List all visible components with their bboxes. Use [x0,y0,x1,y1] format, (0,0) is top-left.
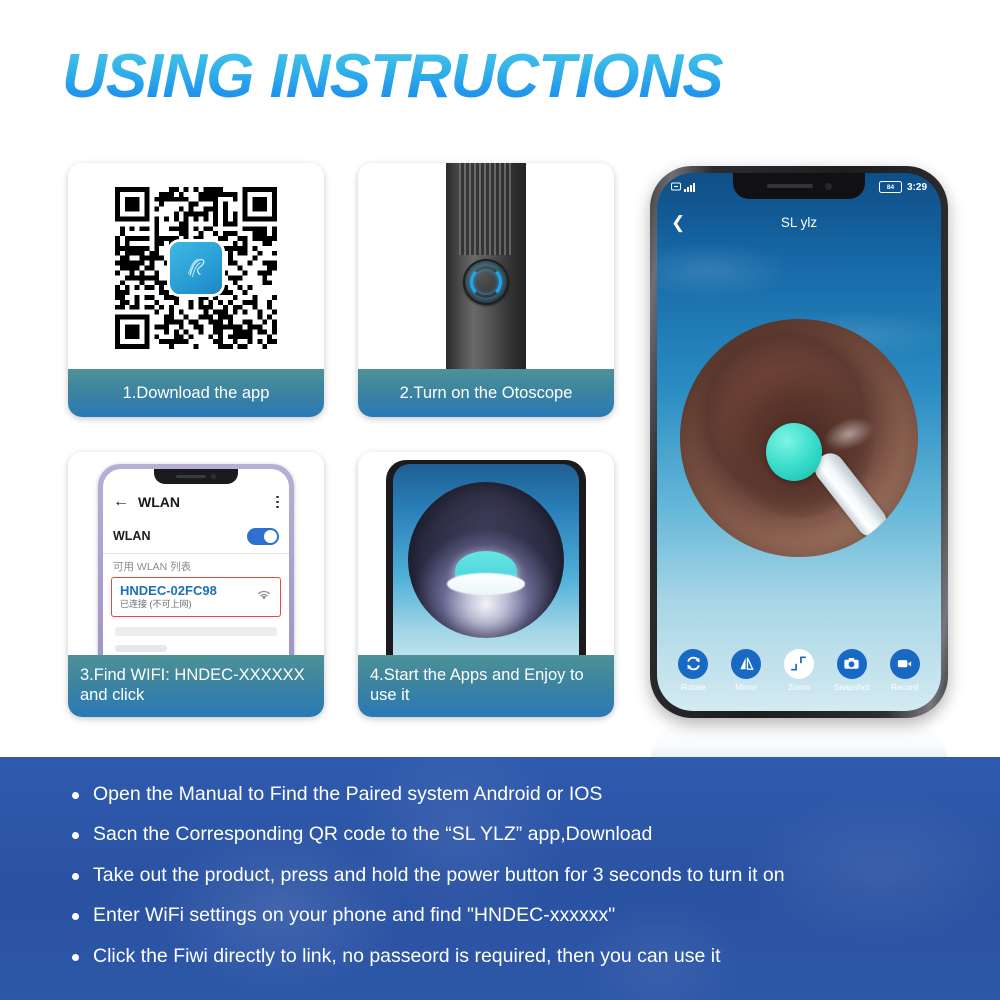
list-item: Sacn the Corresponding QR code to the “S… [72,823,960,845]
rotate-icon [678,649,708,679]
ear-tip-glow [447,573,525,595]
list-item-text: Open the Manual to Find the Paired syste… [93,783,602,805]
wlan-header: ← WLAN [103,487,289,517]
phone-frame: 84 3:29 ❮ SL ylz [650,166,948,718]
phone-screen: 84 3:29 ❮ SL ylz [657,173,941,711]
wifi-ssid: HNDEC-02FC98 [120,584,217,598]
list-item-text: Take out the product, press and hold the… [93,864,785,886]
otoscope-grip-texture [459,163,513,255]
toolbar-button-mirror[interactable]: Mirror [723,649,769,692]
battery-icon: 84 [879,181,902,193]
ear-canal-view-icon [680,319,918,557]
power-button-icon [463,259,509,305]
bullet-dot-icon [72,913,79,920]
card-3-caption-text: 3.Find WIFI: HNDEC-XXXXXX and click [80,666,312,706]
wifi-network-item-highlighted[interactable]: HNDEC-02FC98 已连接 (不可上网) [111,577,281,617]
wlan-screen: ← WLAN WLAN 可用 WLAN 列表 HNDEC-02FC98 已连接 … [103,469,289,674]
list-item: Enter WiFi settings on your phone and fi… [72,904,960,926]
signal-bars-icon [684,183,695,192]
toolbar-label-snapshot: Snapshot [834,682,870,692]
list-item-text: Enter WiFi settings on your phone and fi… [93,904,615,926]
wlan-toggle-row[interactable]: WLAN [103,521,289,551]
step-card-start-app: 4.Start the Apps and Enjoy to use it [358,452,614,717]
main-phone-mockup: 84 3:29 ❮ SL ylz [650,166,948,718]
card-2-caption-text: 2.Turn on the Otoscope [400,384,573,403]
wlan-header-title: WLAN [138,494,180,510]
card-1-caption: 1.Download the app [68,369,324,417]
wifi-item-texts: HNDEC-02FC98 已连接 (不可上网) [120,584,217,610]
card-4-caption-text: 4.Start the Apps and Enjoy to use it [370,666,602,706]
power-indicator-ring [470,266,502,298]
list-item-text: Sacn the Corresponding QR code to the “S… [93,823,652,845]
wifi-connection-status: 已连接 (不可上网) [120,600,217,610]
app-title: SL ylz [657,215,941,230]
toolbar-label-record: Record [891,682,918,692]
wlan-list-label: 可用 WLAN 列表 [113,559,191,574]
zoom-crop-icon [784,649,814,679]
status-bar-left [671,178,695,196]
front-camera-icon [825,183,832,190]
camera-circle-view [408,482,564,638]
back-arrow-icon[interactable]: ← [113,494,129,510]
preview-phone-frame [386,460,586,670]
list-item: Take out the product, press and hold the… [72,864,960,886]
toolbar-button-snapshot[interactable]: Snapshot [829,649,875,692]
wlan-toggle-label: WLAN [113,529,151,543]
card-2-caption: 2.Turn on the Otoscope [358,369,614,417]
toolbar-button-zoom[interactable]: Zoom [776,649,822,692]
bullet-dot-icon [72,832,79,839]
page-title: USING INSTRUCTIONS [62,46,723,108]
list-item-text: Click the Fiwi directly to link, no pass… [93,945,721,967]
front-camera-icon [211,474,216,479]
step-card-find-wifi: ← WLAN WLAN 可用 WLAN 列表 HNDEC-02FC98 已连接 … [68,452,324,717]
qr-code-icon [115,187,277,349]
toolbar-label-mirror: Mirror [735,682,757,692]
preview-phone-mockup [386,460,586,670]
video-camera-icon [890,649,920,679]
app-title-bar: ❮ SL ylz [657,209,941,235]
title-area: USING INSTRUCTIONS [0,22,1000,114]
toolbar-button-record[interactable]: Record [882,649,928,692]
list-item: Click the Fiwi directly to link, no pass… [72,945,960,967]
step-card-download-app: 1.Download the app [68,163,324,417]
bullet-dot-icon [72,792,79,799]
instructions-list: Open the Manual to Find the Paired syste… [0,757,1000,1000]
otoscope-camera-view-icon [393,464,579,670]
mirror-icon [731,649,761,679]
overflow-menu-icon[interactable] [276,496,279,509]
back-chevron-icon[interactable]: ❮ [671,214,685,231]
wlan-toggle-switch[interactable] [247,528,279,545]
wlan-phone-mockup: ← WLAN WLAN 可用 WLAN 列表 HNDEC-02FC98 已连接 … [98,464,294,674]
divider [103,553,289,554]
network-icon [671,178,681,196]
instructions-panel: Open the Manual to Find the Paired syste… [0,757,1000,1000]
camera-toolbar: Rotate Mirror [657,643,941,697]
card-1-caption-text: 1.Download the app [123,384,270,403]
status-time: 3:29 [907,182,927,193]
list-item: Open the Manual to Find the Paired syste… [72,783,960,805]
card-4-caption: 4.Start the Apps and Enjoy to use it [358,655,614,717]
otoscope-handle-icon [446,163,526,371]
status-bar-right: 84 3:29 [879,181,927,193]
wifi-list-placeholder-row [115,645,167,652]
wifi-signal-icon [256,588,272,606]
camera-icon [837,649,867,679]
wifi-list-placeholder-row [115,627,277,636]
earpiece-speaker-icon [767,184,813,188]
phone-notch [733,173,865,199]
probe-tip-icon [766,423,822,481]
bullet-dot-icon [72,954,79,961]
earpiece-speaker-icon [176,475,206,478]
toolbar-label-zoom: Zoom [788,682,810,692]
ear-logo-icon [170,242,222,294]
toolbar-button-rotate[interactable]: Rotate [670,649,716,692]
bullet-dot-icon [72,873,79,880]
phone-notch [154,469,238,484]
card-3-caption: 3.Find WIFI: HNDEC-XXXXXX and click [68,655,324,717]
step-card-turn-on-otoscope: 2.Turn on the Otoscope [358,163,614,417]
toolbar-label-rotate: Rotate [681,682,706,692]
